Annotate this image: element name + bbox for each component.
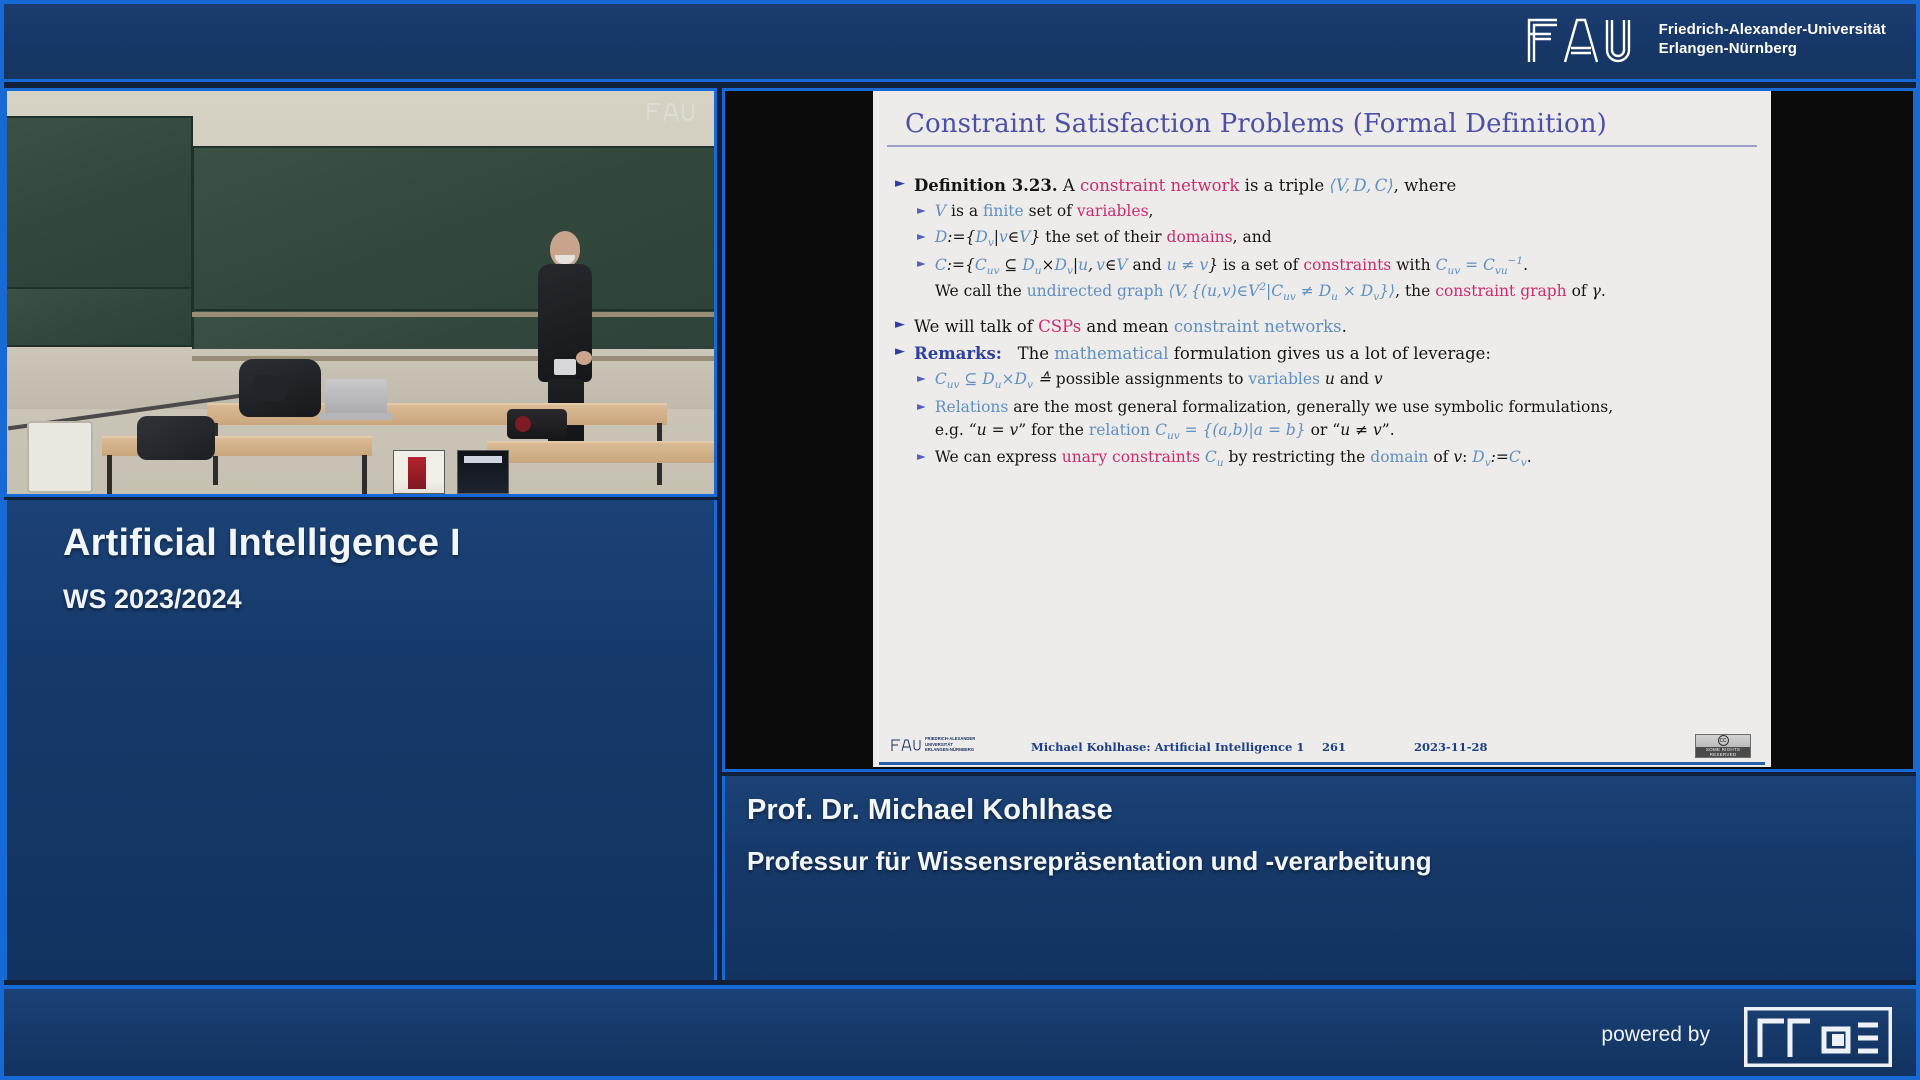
slide-title: Constraint Satisfaction Problems (Formal… <box>887 97 1757 147</box>
slide-bullet: ► Relations are the most general formali… <box>917 396 1753 445</box>
chalkboard-left-upper <box>4 116 193 291</box>
bullet-marker-icon: ► <box>917 253 926 273</box>
presenter-name: Prof. Dr. Michael Kohlhase <box>747 794 1113 827</box>
presenter-info-panel: Prof. Dr. Michael Kohlhase Professur für… <box>722 776 1916 980</box>
slide-footer-date: 2023-11-28 <box>1414 740 1488 754</box>
header-branding: Friedrich-Alexander-Universität Erlangen… <box>1525 14 1886 64</box>
slide-bullet: ► C:={Cuv ⊆ Du×Dv|u, v∈V and u ≠ v} is a… <box>917 253 1753 306</box>
presenter-role: Professur für Wissensrepräsentation und … <box>747 846 1432 877</box>
lecturer-head <box>550 231 580 267</box>
bullet-text: Remarks: The mathematical formulation gi… <box>914 341 1753 366</box>
poster-left <box>393 450 445 494</box>
chalk-rail-upper <box>192 312 717 317</box>
bullet-marker-icon: ► <box>917 226 926 246</box>
slide-bullet: ► Definition 3.23. A constraint network … <box>895 173 1753 198</box>
slide-bullet: ► Remarks: The mathematical formulation … <box>895 341 1753 366</box>
bullet-text: Cuv ⊆ Du×Dv ≙ possible assignments to va… <box>935 368 1753 393</box>
desk-right <box>487 441 717 463</box>
university-name: Friedrich-Alexander-Universität Erlangen… <box>1659 20 1886 58</box>
bullet-marker-icon: ► <box>895 341 905 364</box>
slide-footer-fau-logo-icon: FRIEDRICH-ALEXANDER UNIVERSITÄT ERLANGEN… <box>891 736 975 753</box>
slide-bullet: ► V is a finite set of variables, <box>917 200 1753 224</box>
bullet-text: Definition 3.23. A constraint network is… <box>914 173 1753 198</box>
rrze-logo-icon <box>1744 1007 1892 1072</box>
bullet-text: D:={Dv|v∈V} the set of their domains, an… <box>935 226 1753 251</box>
slide-footer-logo-text: FRIEDRICH-ALEXANDER UNIVERSITÄT ERLANGEN… <box>925 736 975 753</box>
slide-video-feed[interactable]: Constraint Satisfaction Problems (Formal… <box>722 88 1916 772</box>
lecturer-hand <box>576 351 592 365</box>
laptop <box>325 379 387 417</box>
slide-page-number: 261 <box>1322 740 1346 754</box>
bullet-text: V is a finite set of variables, <box>935 200 1753 224</box>
lecturer-video-feed[interactable] <box>4 88 717 497</box>
desk-leg <box>362 455 367 497</box>
chair <box>27 421 93 493</box>
creative-commons-badge-icon: cc SOME RIGHTS RESERVED <box>1695 734 1751 758</box>
jacket <box>137 416 215 460</box>
bullet-marker-icon: ► <box>917 368 926 388</box>
lecture-recording-player: Friedrich-Alexander-Universität Erlangen… <box>0 0 1920 1080</box>
cc-symbol: cc <box>1718 735 1729 746</box>
camera-equipment <box>507 409 567 439</box>
slide-canvas: Constraint Satisfaction Problems (Formal… <box>873 91 1771 767</box>
video-scene <box>7 91 714 494</box>
slide-footer-author: Michael Kohlhase: Artificial Intelligenc… <box>1031 740 1304 754</box>
footer-bar: powered by <box>0 985 1920 1080</box>
powered-by-label: powered by <box>1601 1023 1710 1047</box>
course-title: Artificial Intelligence I <box>63 522 461 565</box>
bullet-text: We can express unary constraints Cu by r… <box>935 446 1753 471</box>
bullet-marker-icon: ► <box>895 314 905 337</box>
course-term: WS 2023/2024 <box>63 584 242 615</box>
lecturer-badge <box>554 359 576 375</box>
chalkboard-left-lower <box>4 287 193 347</box>
bullet-text: We will talk of CSPs and mean constraint… <box>914 314 1753 339</box>
slide-footer: FRIEDRICH-ALEXANDER UNIVERSITÄT ERLANGEN… <box>879 731 1765 765</box>
bullet-marker-icon: ► <box>917 396 926 416</box>
chalkboard-main <box>192 146 717 311</box>
course-info-panel: Artificial Intelligence I WS 2023/2024 <box>4 500 717 980</box>
video-fau-watermark-icon <box>646 101 696 128</box>
bullet-marker-icon: ► <box>917 200 926 220</box>
bullet-marker-icon: ► <box>917 446 926 466</box>
bullet-text: C:={Cuv ⊆ Du×Dv|u, v∈V and u ≠ v} is a s… <box>935 253 1753 306</box>
cc-license-text: SOME RIGHTS RESERVED <box>1696 747 1750 757</box>
desk-leg <box>107 455 112 497</box>
bullet-marker-icon: ► <box>895 173 905 196</box>
poster-right <box>457 450 509 494</box>
slide-bullet: ► D:={Dv|v∈V} the set of their domains, … <box>917 226 1753 251</box>
slide-body: ► Definition 3.23. A constraint network … <box>873 147 1771 731</box>
backpack <box>239 359 321 417</box>
fau-logo-icon <box>1525 14 1643 64</box>
header-bar: Friedrich-Alexander-Universität Erlangen… <box>0 0 1920 82</box>
slide-bullet: ► Cuv ⊆ Du×Dv ≙ possible assignments to … <box>917 368 1753 393</box>
slide-bullet: ► We will talk of CSPs and mean constrai… <box>895 314 1753 339</box>
bullet-text: Relations are the most general formaliza… <box>935 396 1753 445</box>
slide-bullet: ► We can express unary constraints Cu by… <box>917 446 1753 471</box>
